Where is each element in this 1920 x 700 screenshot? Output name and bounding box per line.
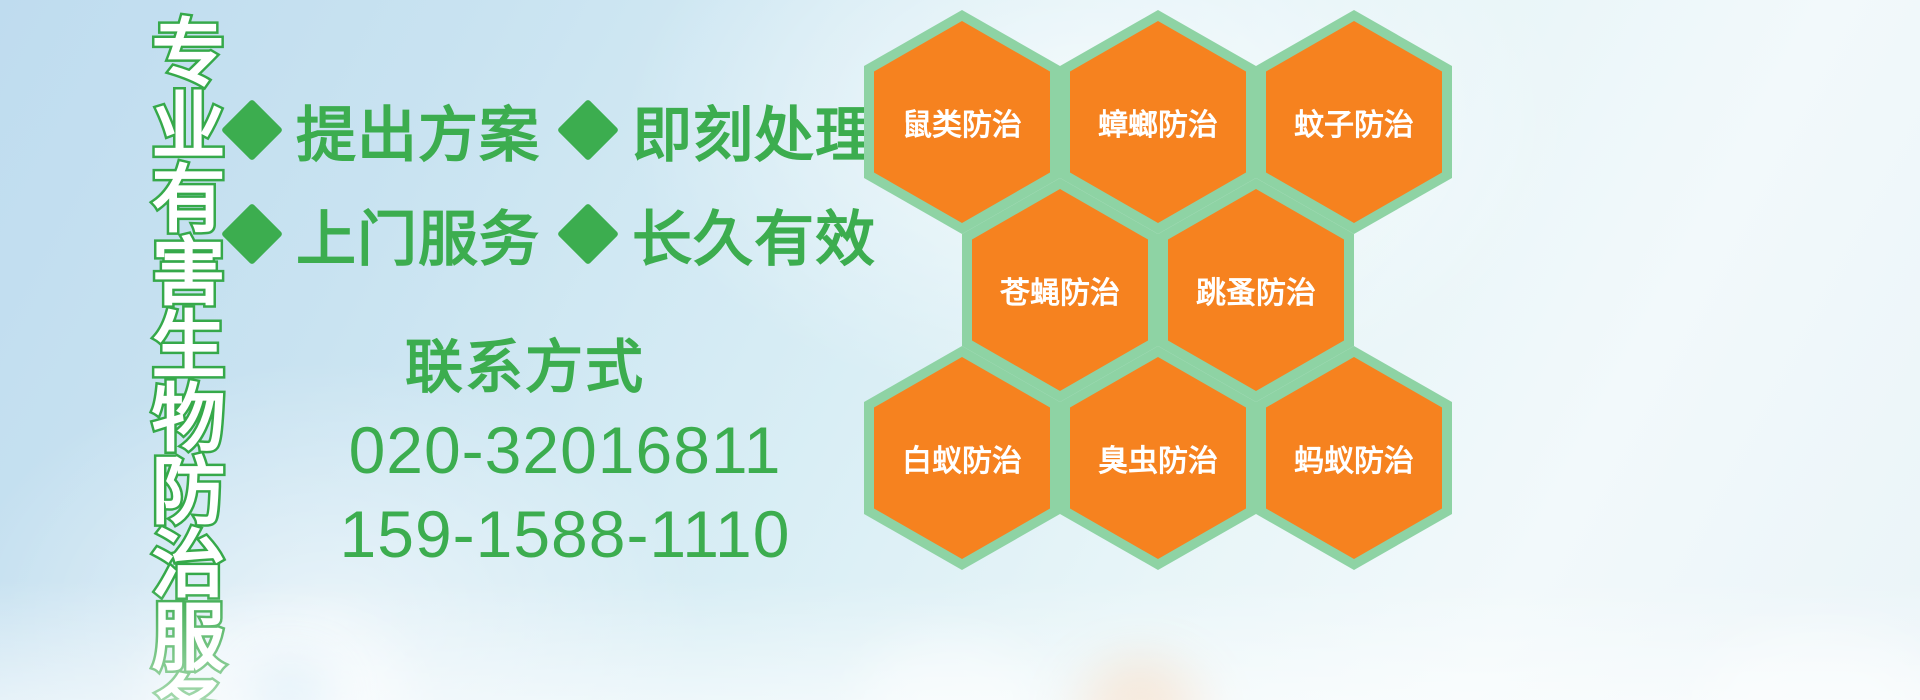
hex-inner: 白蚁防治 [874, 357, 1050, 559]
promo-banner: 专业有害生物防治服务 提出方案 即刻处理 上门服务 长久有效 联系方式 [0, 0, 1920, 700]
background-blur-blob [1080, 668, 1200, 700]
hex-inner: 臭虫防治 [1070, 357, 1246, 559]
diamond-bullet-icon [557, 99, 619, 161]
feature-label: 长久有效 [632, 191, 876, 278]
service-label: 蚊子防治 [1294, 100, 1414, 144]
diamond-bullet-icon [221, 203, 283, 265]
service-honeycomb: 鼠类防治 蟑螂防治 蚊子防治 苍蝇防治 跳蚤防治 白蚁防治 [862, 0, 1452, 552]
feature-item-immediate-handling: 即刻处理 [566, 87, 876, 174]
background-blur-blob [860, 640, 1040, 700]
service-label: 白蚁防治 [902, 436, 1022, 480]
feature-label: 上门服务 [296, 191, 540, 278]
service-label: 蟑螂防治 [1098, 100, 1218, 144]
contact-block: 联系方式 020-32016811 159-1588-1110 [230, 320, 860, 572]
hex-inner: 苍蝇防治 [972, 189, 1148, 391]
hex-inner: 蚂蚁防治 [1266, 357, 1442, 559]
service-label: 蚂蚁防治 [1294, 436, 1414, 480]
feature-label: 提出方案 [296, 87, 540, 174]
feature-row: 提出方案 即刻处理 [230, 78, 870, 182]
hex-inner: 鼠类防治 [874, 21, 1050, 223]
feature-row: 上门服务 长久有效 [230, 182, 870, 286]
phone-number-landline[interactable]: 020-32016811 [270, 412, 860, 488]
service-label: 苍蝇防治 [1000, 268, 1120, 312]
hex-inner: 蚊子防治 [1266, 21, 1442, 223]
hex-inner: 跳蚤防治 [1168, 189, 1344, 391]
hex-inner: 蟑螂防治 [1070, 21, 1246, 223]
service-label: 臭虫防治 [1098, 436, 1218, 480]
feature-item-onsite-service: 上门服务 [230, 191, 540, 278]
feature-item-long-lasting: 长久有效 [566, 191, 876, 278]
vertical-headline: 专业有害生物防治服务 [104, 14, 216, 566]
background-blur-blob [255, 668, 325, 700]
diamond-bullet-icon [221, 99, 283, 161]
phone-number-mobile[interactable]: 159-1588-1110 [270, 496, 860, 572]
background-blur-blob [1700, 630, 1920, 700]
service-label: 跳蚤防治 [1196, 268, 1316, 312]
feature-label: 即刻处理 [632, 87, 876, 174]
diamond-bullet-icon [557, 203, 619, 265]
service-label: 鼠类防治 [902, 100, 1022, 144]
feature-item-propose-plan: 提出方案 [230, 87, 540, 174]
contact-heading: 联系方式 [405, 320, 860, 404]
feature-list: 提出方案 即刻处理 上门服务 长久有效 [230, 78, 870, 286]
